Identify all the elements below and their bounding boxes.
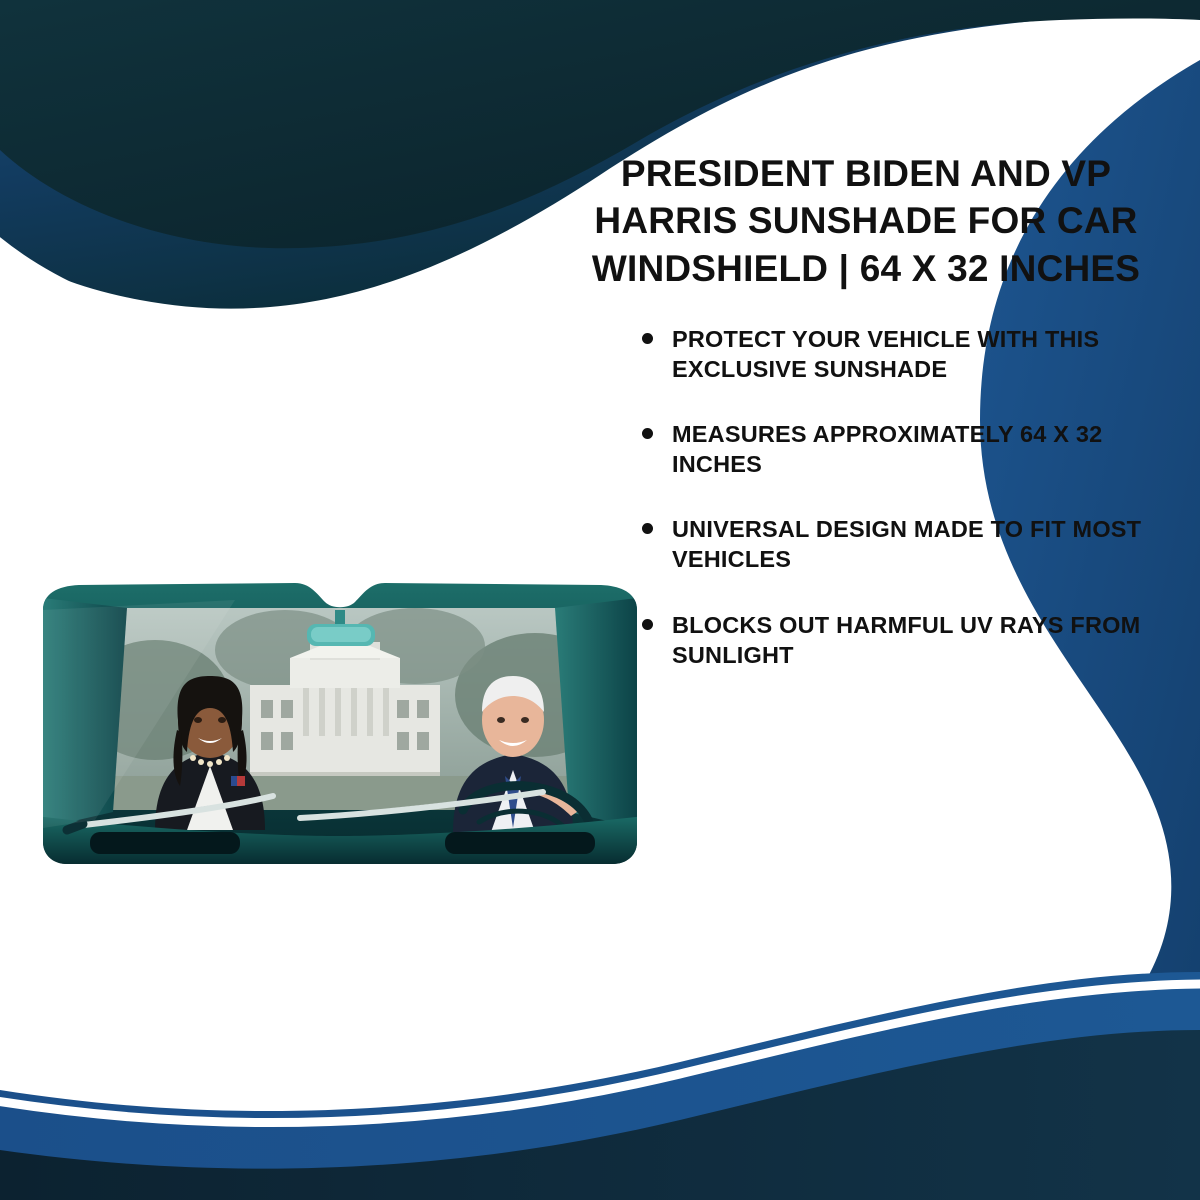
bullet-dot-icon	[642, 428, 653, 439]
list-item-label: PROTECT YOUR VEHICLE WITH THIS EXCLUSIVE…	[672, 326, 1099, 382]
sunshade-artwork	[35, 580, 645, 870]
list-item: MEASURES APPROXIMATELY 64 X 32 INCHES	[642, 419, 1170, 479]
product-infographic-page: PRESIDENT BIDEN AND VP HARRIS SUNSHADE F…	[0, 0, 1200, 1200]
bullet-dot-icon	[642, 333, 653, 344]
bullet-dot-icon	[642, 619, 653, 630]
list-item: UNIVERSAL DESIGN MADE TO FIT MOST VEHICL…	[642, 514, 1170, 574]
list-item: PROTECT YOUR VEHICLE WITH THIS EXCLUSIVE…	[642, 324, 1170, 384]
list-item: BLOCKS OUT HARMFUL UV RAYS FROM SUNLIGHT	[642, 610, 1170, 670]
product-text-column: PRESIDENT BIDEN AND VP HARRIS SUNSHADE F…	[570, 150, 1170, 670]
page-title: PRESIDENT BIDEN AND VP HARRIS SUNSHADE F…	[570, 150, 1170, 292]
list-item-label: UNIVERSAL DESIGN MADE TO FIT MOST VEHICL…	[672, 516, 1141, 572]
list-item-label: BLOCKS OUT HARMFUL UV RAYS FROM SUNLIGHT	[672, 612, 1140, 668]
bullet-dot-icon	[642, 523, 653, 534]
product-image	[35, 580, 645, 870]
feature-list: PROTECT YOUR VEHICLE WITH THIS EXCLUSIVE…	[570, 324, 1170, 670]
list-item-label: MEASURES APPROXIMATELY 64 X 32 INCHES	[672, 421, 1102, 477]
